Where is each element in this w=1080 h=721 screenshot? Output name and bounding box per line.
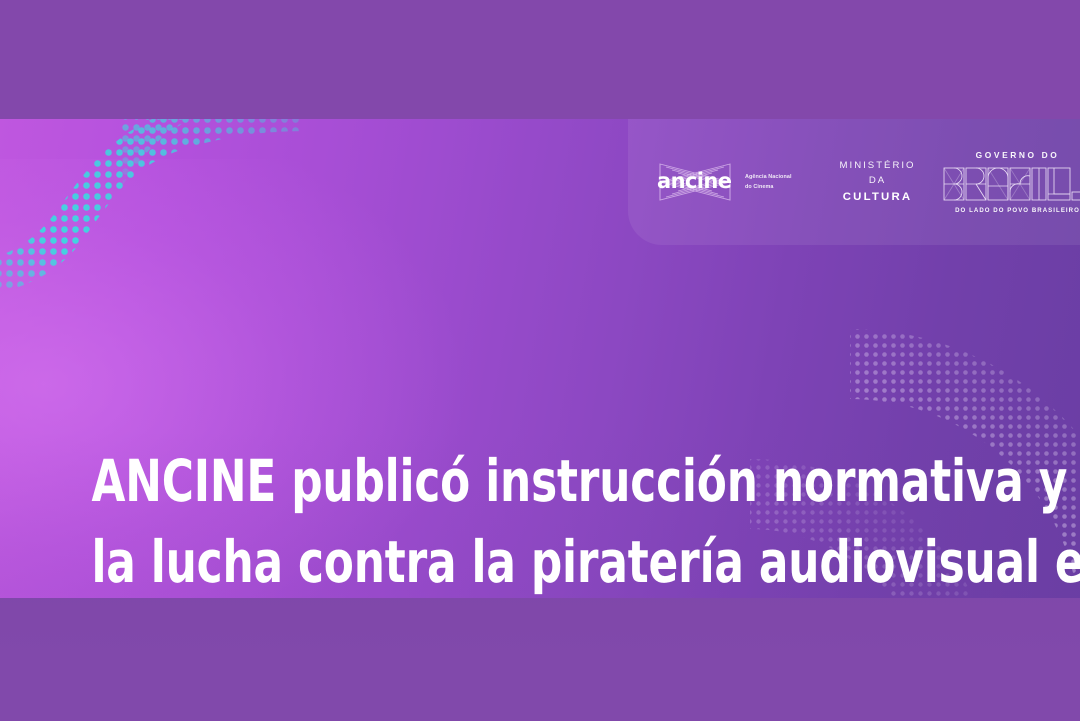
ancine-wordmark: ancine: [657, 171, 731, 192]
ancine-subtitle: Agência Nacional do Cinema: [745, 172, 792, 192]
top-color-bar: [0, 0, 1080, 119]
headline-line-1: ANCINE publicó instrucción normativa y a…: [86, 452, 993, 512]
headline: ANCINE publicó instrucción normativa y a…: [86, 452, 993, 592]
headline-line-2: la lucha contra la piratería audiovisual…: [86, 533, 993, 593]
ancine-logo[interactable]: ancine Agência Nacional do Cinema: [652, 160, 792, 204]
promo-banner: ancine Agência Nacional do Cinema MINIST…: [0, 0, 1080, 721]
brasil-wordmark-icon: [942, 164, 1080, 204]
ministry-line-2: CULTURA: [840, 189, 916, 206]
government-of-brazil-logo[interactable]: GOVERNO DO: [942, 150, 1080, 215]
ancine-subtitle-line-2: do Cinema: [745, 182, 792, 192]
government-bottom-label: DO LADO DO POVO BRASILEIRO: [942, 207, 1080, 215]
cyan-halftone-accent-icon: [120, 119, 280, 239]
ministry-line-1: MINISTÉRIO DA: [840, 159, 916, 189]
institutional-logo-panel: ancine Agência Nacional do Cinema MINIST…: [628, 119, 1080, 245]
bottom-color-bar: [0, 598, 1080, 721]
ancine-symbol-icon: ancine: [652, 160, 738, 204]
ancine-subtitle-line-1: Agência Nacional: [745, 172, 792, 182]
government-top-label: GOVERNO DO: [942, 150, 1080, 161]
ministry-of-culture-logo[interactable]: MINISTÉRIO DA CULTURA: [840, 159, 916, 205]
